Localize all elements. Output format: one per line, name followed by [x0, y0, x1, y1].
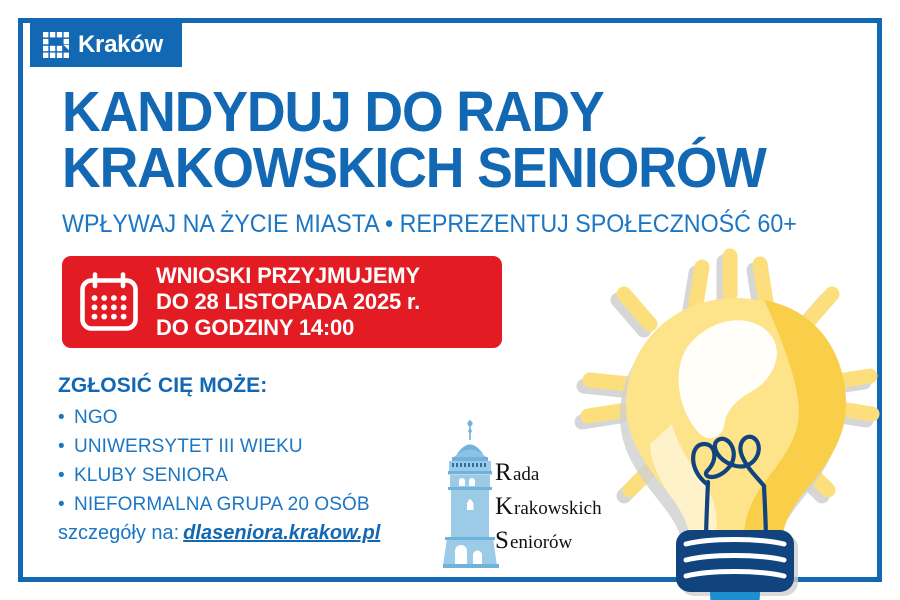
list-item: •NIEFORMALNA GRUPA 20 OSÓB [58, 491, 370, 520]
deadline-text: WNIOSKI PRZYJMUJEMY DO 28 LISTOPADA 2025… [156, 263, 420, 341]
bullet-glyph: • [58, 462, 74, 491]
calendar-icon [78, 271, 140, 333]
deadline-banner: WNIOSKI PRZYJMUJEMY DO 28 LISTOPADA 2025… [62, 256, 502, 348]
deadline-line-1: WNIOSKI PRZYJMUJEMY [156, 263, 420, 289]
bullet-glyph: • [58, 404, 74, 433]
rks-line-3-rest: eniorów [510, 532, 573, 553]
bulb-tip [710, 592, 760, 600]
list-item: •UNIWERSYTET III WIEKU [58, 433, 370, 462]
nominate-heading: ZGŁOSIĆ CIĘ MOŻE: [58, 374, 267, 398]
list-item-label: KLUBY SENIORA [74, 465, 228, 486]
bullet-glyph: • [58, 433, 74, 462]
rks-line-3: S [495, 527, 509, 554]
page-title: KANDYDUJ DO RADY KRAKOWSKICH SENIORÓW [62, 84, 814, 197]
light-bulb-icon [568, 238, 900, 600]
rks-line-1: R [495, 459, 512, 486]
krakow-logo-wordmark: Kraków [78, 33, 163, 57]
krakow-grid-icon [43, 32, 69, 58]
details-label: szczegóły na: [58, 522, 179, 544]
bullet-glyph: • [58, 491, 74, 520]
rks-line-1-rest: ada [513, 464, 540, 485]
poster-canvas: Kraków KANDYDUJ DO RADY KRAKOWSKICH SENI… [0, 0, 900, 600]
details-url-link[interactable]: dlaseniora.krakow.pl [183, 522, 380, 544]
list-item-label: NIEFORMALNA GRUPA 20 OSÓB [74, 494, 370, 515]
headline-line-1: KANDYDUJ DO RADY [62, 84, 814, 140]
list-item: •KLUBY SENIORA [58, 462, 370, 491]
krakow-tower-icon [443, 420, 499, 568]
deadline-line-2: DO 28 LISTOPADA 2025 r. [156, 289, 420, 315]
krakow-logo-badge[interactable]: Kraków [30, 23, 182, 67]
deadline-line-3: DO GODZINY 14:00 [156, 315, 420, 341]
nominate-list: •NGO •UNIWERSYTET III WIEKU •KLUBY SENIO… [58, 404, 370, 520]
list-item-label: UNIWERSYTET III WIEKU [74, 436, 303, 457]
details-line: szczegóły na:dlaseniora.krakow.pl [58, 522, 380, 545]
list-item: •NGO [58, 404, 370, 433]
list-item-label: NGO [74, 407, 118, 428]
rks-line-2: K [495, 493, 513, 520]
headline-line-2: KRAKOWSKICH SENIORÓW [62, 140, 814, 196]
subtitle: WPŁYWAJ NA ŻYCIE MIASTA • REPREZENTUJ SP… [62, 210, 797, 239]
